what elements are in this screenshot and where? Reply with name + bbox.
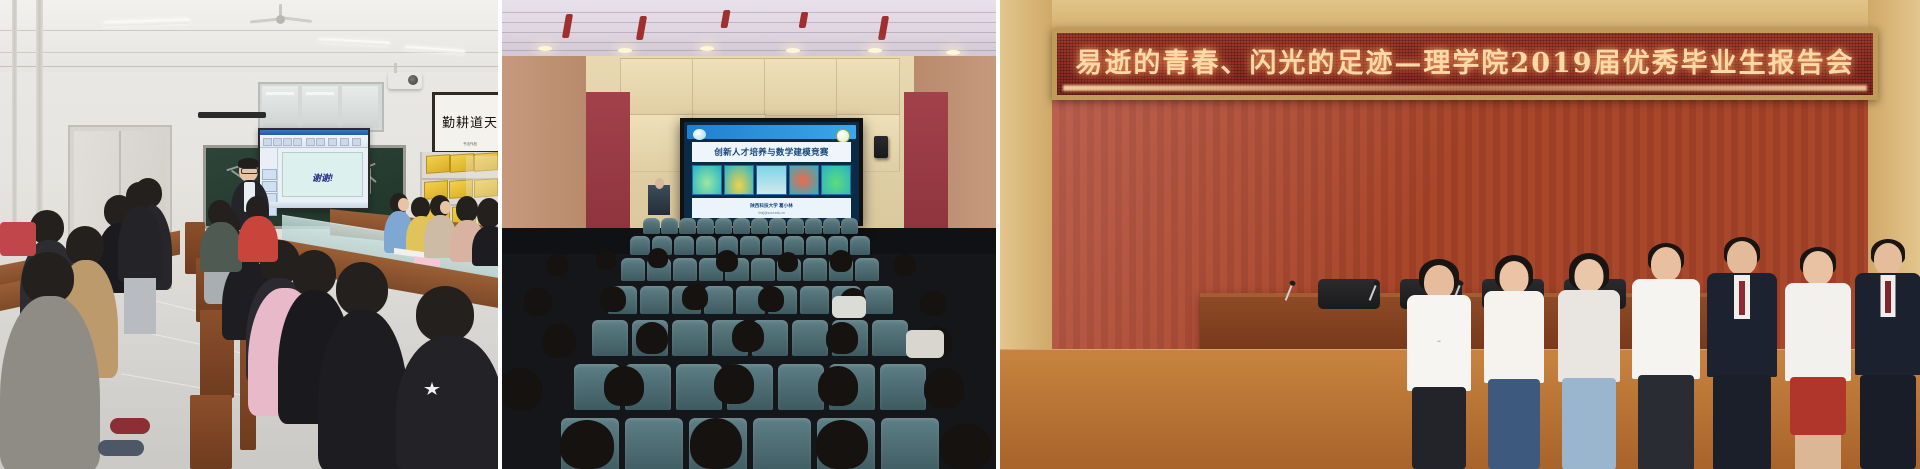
slide-logo-icon (693, 129, 706, 140)
ceiling-downlight (868, 48, 882, 53)
slide-footer: 陕西科技大学 葛小林 limlj@sust.edu.cn (692, 198, 851, 218)
audience-head (940, 424, 992, 469)
student-back (318, 262, 404, 469)
audience-head (830, 250, 852, 272)
ceiling-downlight (618, 48, 632, 53)
audience-head (636, 322, 668, 354)
graduate-person (1852, 239, 1920, 469)
classroom-ceiling (0, 0, 500, 72)
slide-title: 创新人才培养与数学建模竞赛 (714, 146, 828, 158)
presenter-head (655, 178, 664, 189)
audience-head (524, 288, 552, 316)
graduate-person (1704, 237, 1780, 469)
audience-head (682, 284, 708, 310)
audience-head (920, 290, 946, 316)
projector-icon (388, 72, 422, 89)
panel-graduation-group-photo: 易逝的青春、闪光的足迹—理学院2019届优秀毕业生报告会 ••• (1000, 0, 1920, 469)
slide-thumb-mesh-plot (724, 165, 754, 195)
shoe (110, 418, 150, 434)
student-standing (118, 182, 160, 312)
ceiling-downlight (700, 46, 714, 51)
audience-light-jacket (832, 296, 866, 318)
audience-head (816, 420, 868, 469)
slide-thumb-surface-plot (692, 165, 722, 195)
slide-thumbnail-strip (692, 165, 851, 195)
banner-text: 易逝的青春、闪光的足迹—理学院2019届优秀毕业生报告会 (1057, 41, 1873, 80)
audience-head (714, 364, 754, 404)
wall-pipe (12, 0, 17, 230)
audience-light-jacket (906, 330, 944, 358)
tee-print-text: ••• (1437, 339, 1440, 343)
student-back (238, 196, 276, 258)
student-back (0, 252, 96, 469)
stage-red-panel (904, 92, 948, 232)
slide-thankyou-text: 谢谢! (283, 171, 362, 184)
student (472, 198, 500, 264)
audience-head (604, 366, 644, 406)
seat-row (500, 236, 1000, 255)
ceiling-downlight (538, 46, 552, 51)
photo-collage: 谢谢! 勤耕道天 书法作品 (0, 0, 1920, 469)
slide-thumb-block-surface (821, 165, 851, 195)
bag (0, 222, 36, 256)
chair (190, 395, 232, 469)
audience-head (648, 248, 668, 268)
calligraphy-subtitle: 书法作品 (435, 142, 500, 147)
stage-red-panel (586, 92, 630, 232)
panel-auditorium-lecture: 创新人才培养与数学建模竞赛 陕西科技大学 葛小林 limlj@sust.edu.… (500, 0, 1000, 469)
student-back (200, 200, 240, 270)
slide-author-line: 陕西科技大学 葛小林 (692, 203, 851, 209)
audience-head (732, 320, 764, 352)
graduate-person (1478, 255, 1550, 469)
projection-screen: 创新人才培养与数学建模竞赛 陕西科技大学 葛小林 limlj@sust.edu.… (680, 118, 863, 226)
slide-email-line: limlj@sust.edu.cn (692, 211, 851, 215)
ceiling-downlight (946, 50, 960, 55)
audience-head (716, 250, 738, 272)
university-seal-icon (836, 129, 850, 143)
calligraphy-text: 勤耕道天 (435, 112, 500, 131)
wall-speaker-icon (874, 136, 888, 158)
audience-head (596, 250, 616, 270)
audience-head (500, 368, 542, 410)
audience-head (546, 254, 568, 276)
audience-head (600, 286, 626, 312)
audience-head (690, 418, 742, 469)
audience-head (894, 254, 916, 276)
graduate-person (1780, 247, 1856, 469)
graduate-person (1628, 243, 1704, 469)
panel-separator (498, 0, 502, 469)
led-banner: 易逝的青春、闪光的足迹—理学院2019届优秀毕业生报告会 (1052, 28, 1878, 100)
slide-header-bar (687, 125, 856, 139)
seat-row (500, 258, 1000, 281)
audience-head (818, 366, 858, 406)
panel-classroom-lecture: 谢谢! 勤耕道天 书法作品 (0, 0, 500, 469)
panel-separator (996, 0, 1000, 469)
seat-row (500, 218, 1000, 234)
audience-head (560, 420, 614, 469)
wall-speaker-bar (198, 112, 266, 118)
ceiling-fan-icon (250, 14, 312, 27)
slide-title-box: 创新人才培养与数学建模竞赛 (692, 142, 851, 162)
interior-window (258, 82, 384, 132)
banner-glow-strip (1063, 85, 1867, 91)
graduate-person (1552, 253, 1626, 469)
audience-head (542, 324, 576, 358)
audience-head (758, 286, 784, 312)
slide-thumb-portrait (756, 165, 786, 195)
podium (648, 185, 670, 215)
auditorium-ceiling (500, 0, 1000, 60)
audience-head (826, 322, 858, 354)
framed-calligraphy: 勤耕道天 书法作品 (432, 92, 500, 154)
ceiling-downlight (786, 48, 800, 53)
audience-head (778, 252, 798, 272)
slide-thumb-heatmap (789, 165, 819, 195)
student-back (396, 286, 500, 469)
audience-head (924, 368, 964, 408)
graduate-person: ••• (1402, 259, 1476, 469)
shoe (98, 440, 144, 456)
